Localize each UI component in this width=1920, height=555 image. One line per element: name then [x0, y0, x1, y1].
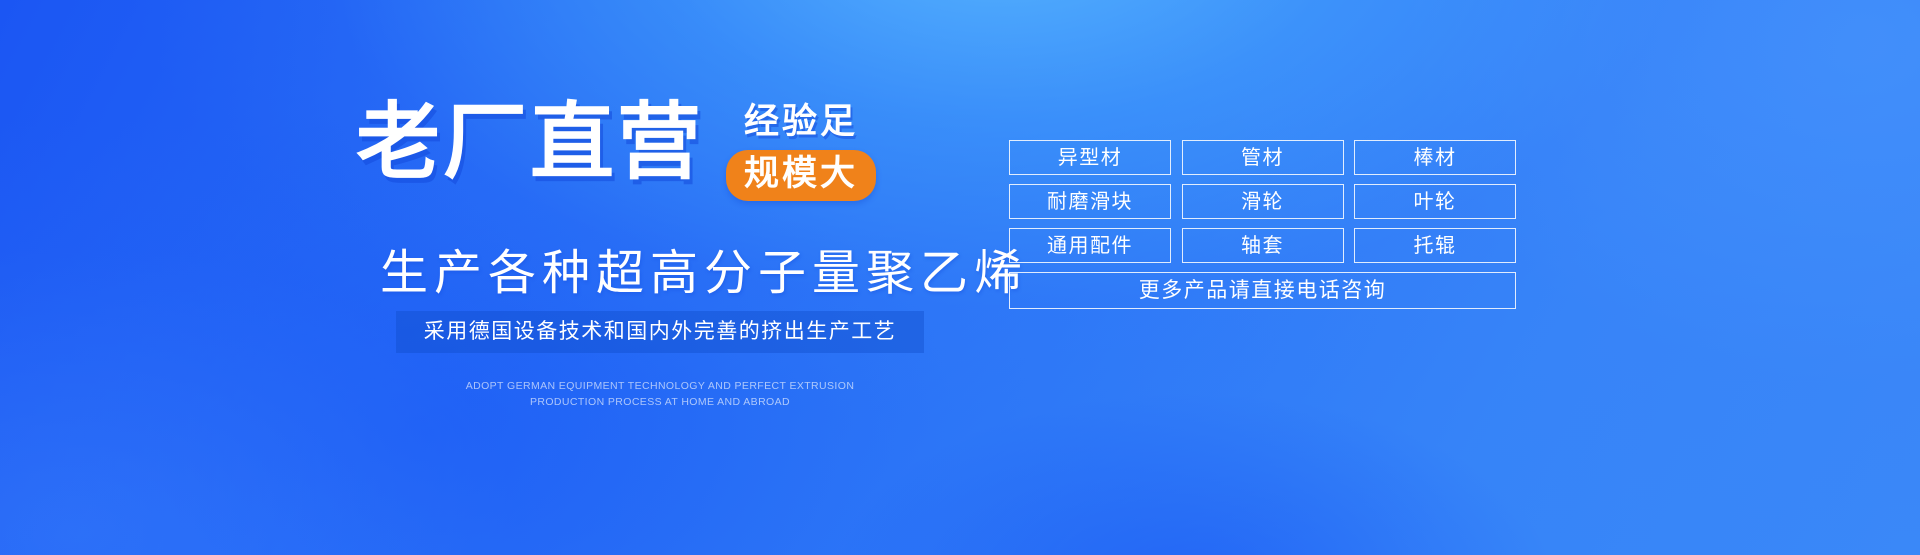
product-button-label: 轴套 — [1241, 234, 1284, 258]
promo-banner: 老厂直营 经验足 规模大 生产各种超高分子量聚乙烯 采用德国设备技术和国内外完善… — [0, 0, 1920, 555]
product-button-tuogun[interactable]: 托辊 — [1354, 228, 1516, 263]
product-button-label: 耐磨滑块 — [1047, 190, 1133, 214]
english-caption-block: ADOPT GERMAN EQUIPMENT TECHNOLOGY AND PE… — [396, 378, 924, 410]
product-button-naimohuakuai[interactable]: 耐磨滑块 — [1009, 184, 1171, 219]
english-caption-line-2: PRODUCTION PROCESS AT HOME AND ABROAD — [396, 394, 924, 410]
product-button-yixingcai[interactable]: 异型材 — [1009, 140, 1171, 175]
product-row-1: 异型材 管材 棒材 — [1009, 140, 1516, 175]
product-button-label: 托辊 — [1414, 234, 1457, 258]
badge-experience: 经验足 — [744, 102, 858, 142]
product-button-label: 通用配件 — [1047, 234, 1133, 258]
product-button-yelun[interactable]: 叶轮 — [1354, 184, 1516, 219]
product-row-2: 耐磨滑块 滑轮 叶轮 — [1009, 184, 1516, 219]
headline-subtitle: 生产各种超高分子量聚乙烯 — [380, 246, 1028, 302]
product-button-label: 异型材 — [1058, 146, 1123, 170]
banner-left-content: 老厂直营 经验足 规模大 生产各种超高分子量聚乙烯 采用德国设备技术和国内外完善… — [0, 0, 1000, 555]
process-highlight-bar: 采用德国设备技术和国内外完善的挤出生产工艺 — [396, 311, 924, 353]
product-button-label: 管材 — [1241, 146, 1284, 170]
more-products-label: 更多产品请直接电话咨询 — [1139, 278, 1387, 303]
headline-badge-group: 经验足 规模大 — [726, 96, 876, 201]
product-button-tongyongpeijian[interactable]: 通用配件 — [1009, 228, 1171, 263]
product-category-panel: 异型材 管材 棒材 耐磨滑块 滑轮 叶轮 通用配件 — [1009, 140, 1516, 309]
product-button-guancai[interactable]: 管材 — [1182, 140, 1344, 175]
product-button-zhoutao[interactable]: 轴套 — [1182, 228, 1344, 263]
product-button-bangcai[interactable]: 棒材 — [1354, 140, 1516, 175]
product-button-label: 棒材 — [1414, 146, 1457, 170]
headline-row: 老厂直营 经验足 规模大 — [356, 96, 876, 201]
product-row-3: 通用配件 轴套 托辊 — [1009, 228, 1516, 263]
badge-scale: 规模大 — [726, 150, 876, 201]
headline-main-title: 老厂直营 — [356, 96, 704, 188]
product-button-label: 叶轮 — [1414, 190, 1457, 214]
product-button-hualun[interactable]: 滑轮 — [1182, 184, 1344, 219]
more-products-button[interactable]: 更多产品请直接电话咨询 — [1009, 272, 1516, 309]
process-bar-text: 采用德国设备技术和国内外完善的挤出生产工艺 — [424, 320, 897, 344]
english-caption-line-1: ADOPT GERMAN EQUIPMENT TECHNOLOGY AND PE… — [396, 378, 924, 394]
product-button-label: 滑轮 — [1241, 190, 1284, 214]
